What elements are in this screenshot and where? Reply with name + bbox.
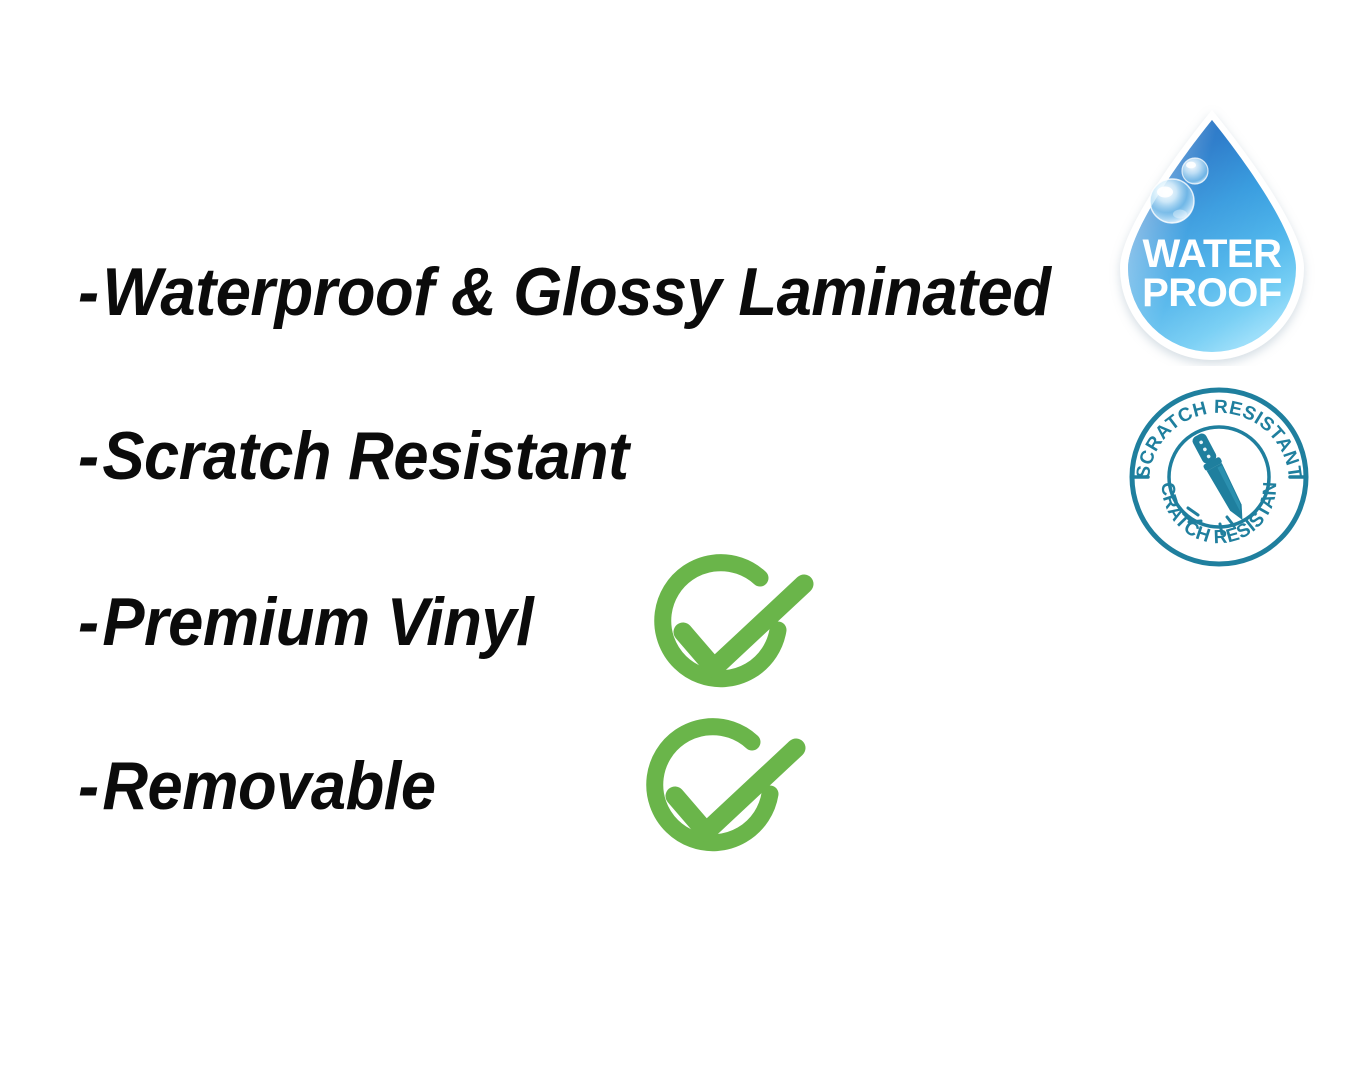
bullet-dash: - (78, 752, 99, 820)
check-circle-icon-removable (630, 716, 810, 876)
bullet-dash: - (78, 258, 99, 326)
water-drop-icon: WATER PROOF (1104, 104, 1320, 366)
feature-line-waterproof: -Waterproof & Glossy Laminated (78, 258, 1051, 326)
bullet-dash: - (78, 422, 99, 490)
bullet-dash: - (78, 588, 99, 656)
check-circle-icon (630, 716, 810, 876)
feature-label: Premium Vinyl (102, 584, 533, 660)
waterproof-badge: WATER PROOF (1104, 104, 1320, 366)
check-mark (675, 748, 796, 832)
waterproof-line1: WATER (1143, 232, 1283, 276)
check-mark (683, 584, 804, 668)
feature-label: Scratch Resistant (102, 418, 628, 494)
feature-line-premium-vinyl: -Premium Vinyl (78, 588, 533, 656)
check-circle-icon (638, 552, 818, 712)
scratch-resistant-badge: SCRATCH RESISTANT SCRATCH RESISTANT (1122, 382, 1316, 572)
waterproof-line2: PROOF (1142, 271, 1282, 315)
feature-line-scratch-resistant: -Scratch Resistant (78, 422, 629, 490)
feature-label: Waterproof & Glossy Laminated (102, 254, 1050, 330)
product-feature-graphic: -Waterproof & Glossy Laminated -Scratch … (0, 0, 1359, 1080)
check-circle-icon-premium-vinyl (638, 552, 818, 712)
knife-stamp-icon: SCRATCH RESISTANT SCRATCH RESISTANT (1122, 382, 1316, 572)
feature-label: Removable (102, 748, 435, 824)
feature-line-removable: -Removable (78, 752, 436, 820)
knife-icon (1189, 431, 1251, 525)
